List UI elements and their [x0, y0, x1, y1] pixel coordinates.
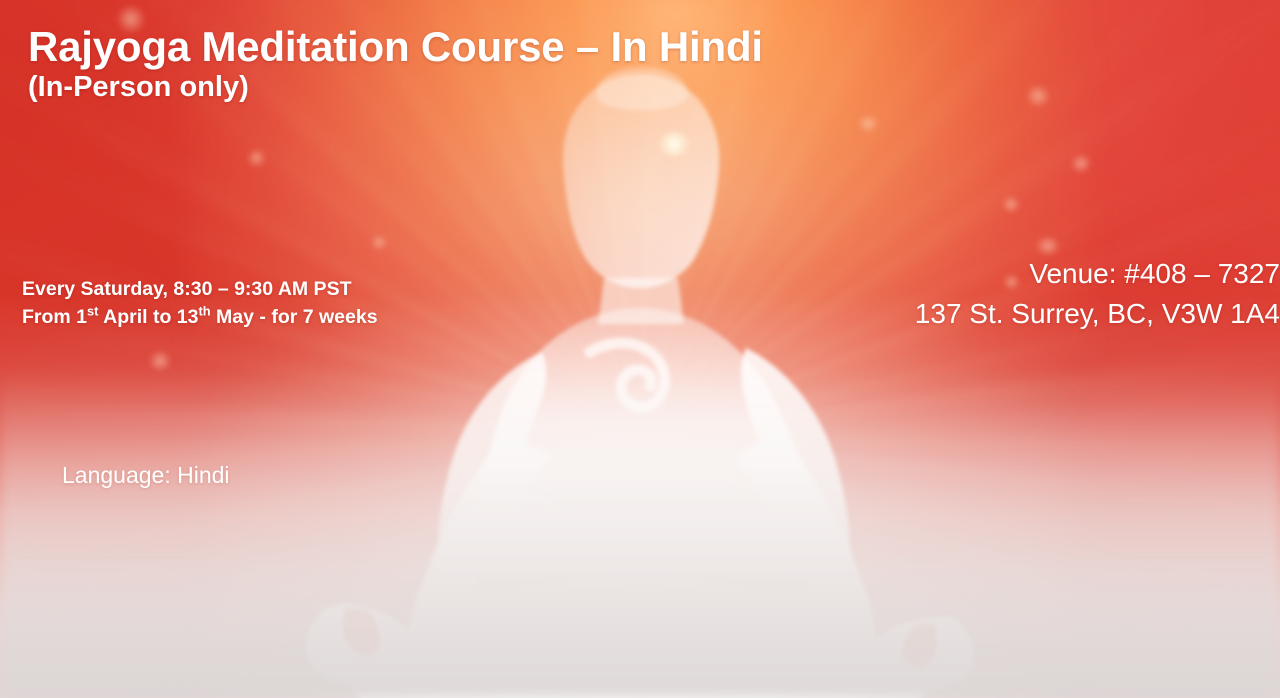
venue-line-1: Venue: #408 – 7327: [915, 254, 1280, 294]
venue-line-2: 137 St. Surrey, BC, V3W 1A4: [915, 294, 1280, 334]
schedule-ordinal-end: th: [199, 303, 211, 318]
bottom-mist: [0, 368, 1280, 698]
page-title: Rajyoga Meditation Course – In Hindi (In…: [28, 24, 763, 104]
third-eye-light: [657, 131, 691, 157]
schedule-dates-suffix: May - for 7 weeks: [211, 306, 378, 328]
course-subtitle: (In-Person only): [28, 71, 763, 103]
schedule-info: Every Saturday, 8:30 – 9:30 AM PST From …: [22, 276, 426, 331]
schedule-ordinal-start: st: [87, 303, 98, 318]
schedule-dates-prefix: From 1: [22, 306, 87, 328]
meditation-course-banner: Rajyoga Meditation Course – In Hindi (In…: [0, 0, 1280, 698]
course-title: Rajyoga Meditation Course – In Hindi: [28, 24, 763, 69]
schedule-dates: From 1st April to 13th May - for 7 weeks: [22, 304, 426, 332]
venue-info: Venue: #408 – 7327 137 St. Surrey, BC, V…: [915, 254, 1280, 334]
schedule-dates-middle: April to 13: [98, 306, 198, 328]
language-info: Language: Hindi: [62, 461, 230, 491]
schedule-time: Every Saturday, 8:30 – 9:30 AM PST: [22, 276, 426, 304]
